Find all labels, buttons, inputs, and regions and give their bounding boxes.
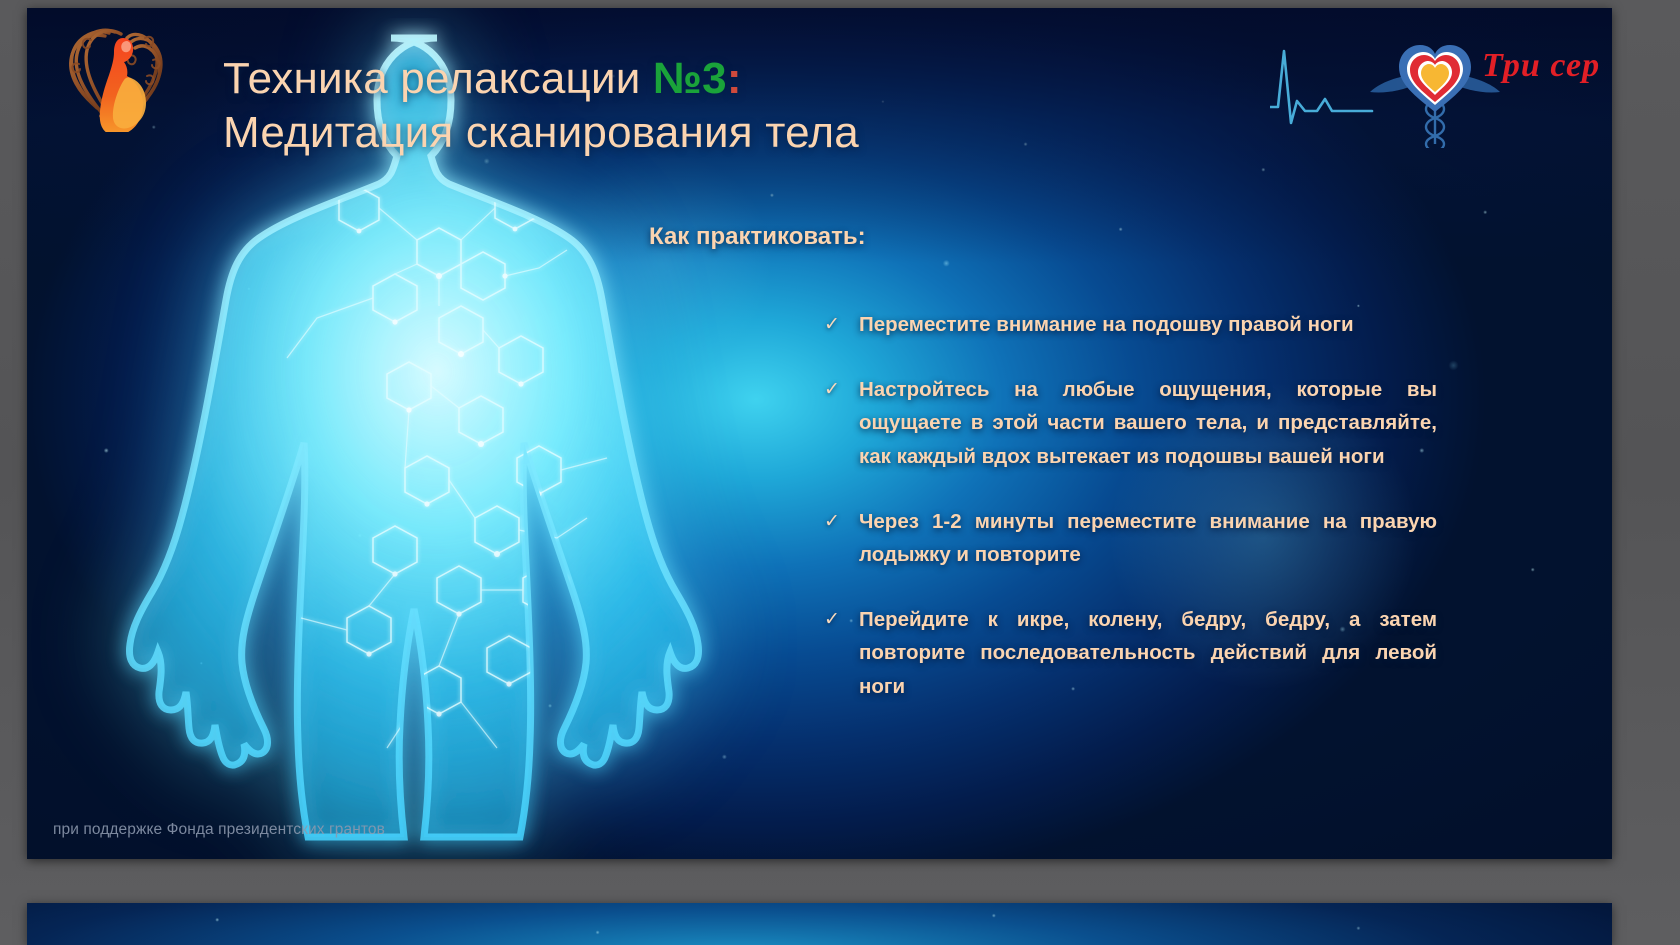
ecg-line [1270, 51, 1372, 123]
presentation-viewer: Три сердца Техника релаксации №3: Медита… [0, 0, 1680, 945]
list-item: ✓ Перейдите к икре, колену, бедру, бедру… [822, 603, 1437, 703]
howto-heading: Как практиковать: [649, 223, 866, 251]
list-item-text: Настройтесь на любые ощущения, которые в… [859, 378, 1437, 467]
title-line-1: Техника релаксации №3: [223, 52, 1233, 106]
tri-serdtsa-logo: Три сердца [1270, 16, 1600, 148]
list-item: ✓ Настройтесь на любые ощущения, которые… [822, 373, 1437, 473]
check-icon: ✓ [824, 375, 840, 406]
list-item-text: Перейдите к икре, колену, бедру, бедру, … [859, 608, 1437, 697]
list-item-text: Через 1-2 минуты переместите внимание на… [859, 510, 1437, 566]
page-title: Техника релаксации №3: Медитация сканиро… [223, 52, 1233, 159]
title-colon: : [727, 54, 742, 103]
check-icon: ✓ [824, 310, 840, 341]
list-item: ✓ Через 1-2 минуты переместите внимание … [822, 505, 1437, 571]
footer-credit: при поддержке Фонда президентских гранто… [53, 821, 385, 839]
next-slide-particles [27, 903, 1612, 945]
list-item: ✓ Переместите внимание на подошву правой… [822, 308, 1437, 341]
next-slide-preview[interactable] [27, 903, 1612, 945]
nested-hearts-icon [1399, 45, 1471, 112]
title-number-badge: №3 [653, 54, 727, 103]
instructions-list: ✓ Переместите внимание на подошву правой… [822, 308, 1437, 703]
check-icon: ✓ [824, 507, 840, 538]
check-icon: ✓ [824, 605, 840, 636]
slide-canvas[interactable]: Три сердца Техника релаксации №3: Медита… [27, 8, 1612, 859]
pregnant-woman-heart-logo [57, 20, 177, 132]
title-line-2: Медитация сканирования тела [223, 106, 1233, 160]
logo-text: Три сердца [1482, 47, 1600, 84]
list-item-text: Переместите внимание на подошву правой н… [859, 313, 1354, 336]
title-prefix: Техника релаксации [223, 54, 653, 103]
